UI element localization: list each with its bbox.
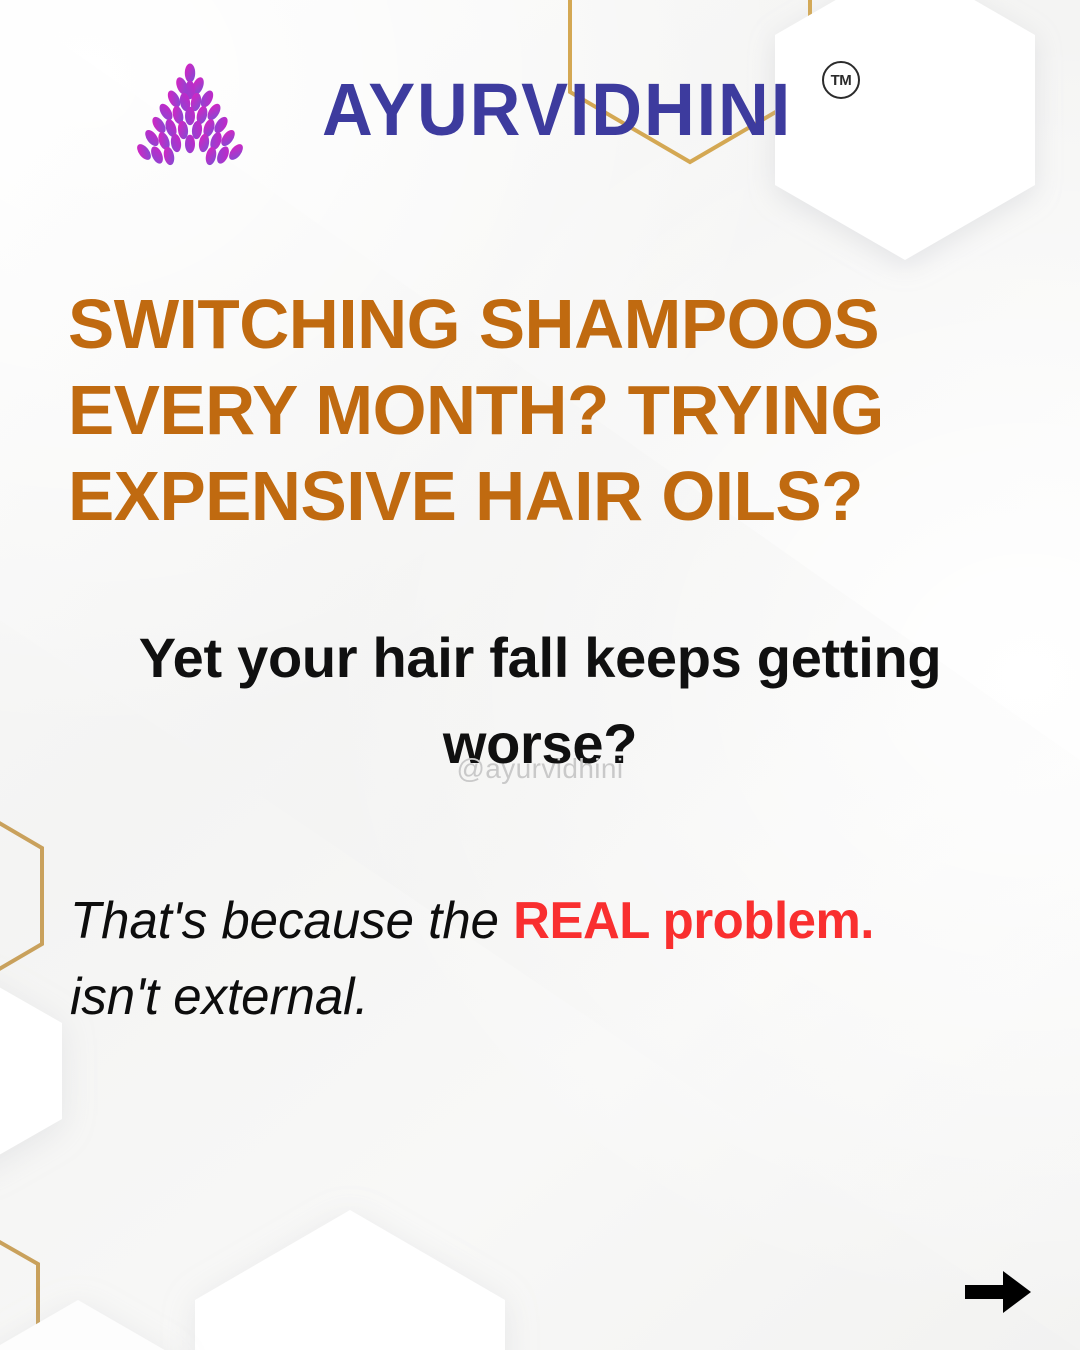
trademark-icon: TM bbox=[822, 61, 860, 99]
watermark-handle: @ayurvidhini bbox=[0, 753, 1080, 785]
brand-wordmark: AYURVIDHINI bbox=[322, 73, 792, 147]
hexagon-fill-bottom bbox=[195, 1210, 505, 1350]
brand-wordmark-group: AYURVIDHINI TM bbox=[322, 73, 860, 147]
ayurvidhini-leaf-a-logo-icon bbox=[128, 57, 252, 181]
hexagon-fill-left bbox=[0, 975, 62, 1167]
body-copy-accent: REAL problem. bbox=[513, 892, 874, 950]
brand-header: AYURVIDHINI TM bbox=[0, 55, 1080, 185]
poster-canvas: AYURVIDHINI TM SWITCHING SHAMPOOS EVERY … bbox=[0, 0, 1080, 1350]
hexagon-fill-bottom-left bbox=[0, 1300, 175, 1350]
body-copy-tail: isn't external. bbox=[70, 968, 369, 1026]
hexagon-outline-bottom-left bbox=[0, 1215, 38, 1350]
arrow-right-icon[interactable] bbox=[963, 1267, 1033, 1317]
body-copy: That's because the REAL problem. isn't e… bbox=[70, 883, 1040, 1035]
body-copy-lead: That's because the bbox=[70, 892, 513, 950]
page-title: SWITCHING SHAMPOOS EVERY MONTH? TRYING E… bbox=[68, 281, 989, 539]
hexagon-outline-left bbox=[0, 800, 42, 992]
